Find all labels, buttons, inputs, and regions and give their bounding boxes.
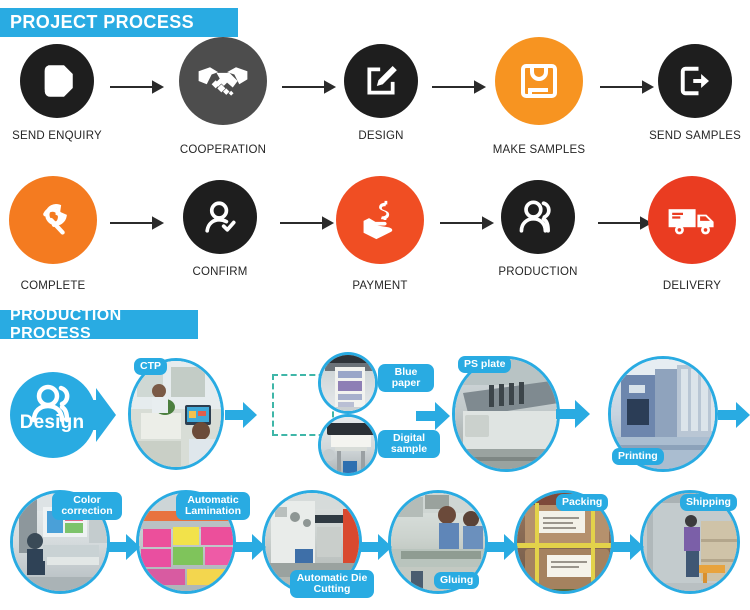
- blue-paper-proof-photo: [321, 355, 375, 411]
- hand-money-icon: [356, 199, 404, 241]
- design-circle: [344, 44, 418, 118]
- delivery-circle: [648, 176, 736, 264]
- project-step-label: SEND SAMPLES: [630, 130, 750, 142]
- project-step-confirm[interactable]: CONFIRM: [155, 180, 285, 278]
- project-step-cooperation[interactable]: COOPERATION: [158, 37, 288, 156]
- send-enquiry-circle: [20, 44, 94, 118]
- arrow-ctp-to-proof: [225, 402, 257, 433]
- project-step-send-enquiry[interactable]: SEND ENQUIRY: [0, 44, 122, 142]
- design-label: Design: [16, 412, 88, 434]
- truck-icon: [665, 200, 719, 240]
- arrow-lamination-to-die-cutting: [234, 534, 266, 565]
- project-step-label: CONFIRM: [155, 266, 285, 278]
- arrow-gluing-to-packing: [486, 534, 518, 565]
- arrow-color-to-lamination: [108, 534, 140, 565]
- project-step-label: MAKE SAMPLES: [474, 144, 604, 156]
- project-step-complete[interactable]: COMPLETE: [0, 176, 118, 292]
- infographic-canvas: PROJECT PROCESS SEND ENQUIRY: [0, 0, 750, 610]
- production-process-row-1: Design: [0, 352, 750, 474]
- production-photo-ps-plate[interactable]: [452, 356, 560, 472]
- project-step-make-samples[interactable]: MAKE SAMPLES: [474, 37, 604, 156]
- wrench-icon: [30, 197, 76, 243]
- production-tag-blue-paper: Blue paper: [378, 364, 434, 392]
- production-process-banner: PRODUCTION PROCESS: [0, 310, 198, 339]
- production-tag-automatic-lamination: Automatic Lamination: [176, 492, 250, 520]
- user-check-icon: [198, 195, 242, 239]
- project-step-label: DELIVERY: [627, 280, 750, 292]
- project-step-send-samples[interactable]: SEND SAMPLES: [630, 44, 750, 142]
- production-photo-ctp[interactable]: [128, 358, 224, 470]
- cooperation-circle: [179, 37, 267, 125]
- project-step-delivery[interactable]: DELIVERY: [627, 176, 750, 292]
- production-process-row-2: Color correction: [0, 488, 750, 606]
- project-step-label: DESIGN: [316, 130, 446, 142]
- digital-sample-printer-photo: [321, 417, 375, 473]
- ctp-workstation-photo: [131, 361, 221, 467]
- make-samples-circle: [495, 37, 583, 125]
- project-step-label: COOPERATION: [158, 144, 288, 156]
- arrow-packing-to-shipping: [612, 534, 644, 565]
- production-tag-printing: Printing: [612, 448, 664, 465]
- arrow-die-cutting-to-gluing: [360, 534, 392, 565]
- production-photo-blue-paper[interactable]: [318, 352, 378, 414]
- production-tag-ctp: CTP: [134, 358, 167, 375]
- project-step-payment[interactable]: PAYMENT: [315, 176, 445, 292]
- project-step-design[interactable]: DESIGN: [316, 44, 446, 142]
- edit-square-icon: [361, 61, 401, 101]
- production-photo-digital-sample[interactable]: [318, 414, 378, 476]
- ps-plate-machine-photo: [455, 359, 557, 469]
- project-step-label: PRODUCTION: [473, 266, 603, 278]
- project-step-production[interactable]: PRODUCTION: [473, 180, 603, 278]
- production-tag-gluing: Gluing: [434, 572, 479, 589]
- production-tag-ps-plate: PS plate: [458, 356, 511, 373]
- arrow-printing-to-next-row: [718, 402, 750, 433]
- production-tag-packing: Packing: [556, 494, 608, 511]
- project-process-banner: PROJECT PROCESS: [0, 8, 238, 37]
- production-tag-digital-sample: Digital sample: [378, 430, 440, 458]
- send-box-icon: [674, 60, 716, 102]
- handshake-icon: [197, 61, 249, 101]
- production-tag-die-cutting: Automatic Die Cutting: [290, 570, 374, 598]
- sample-bag-icon: [515, 57, 563, 105]
- project-step-label: PAYMENT: [315, 280, 445, 292]
- document-icon: [36, 60, 78, 102]
- production-tag-color-correction: Color correction: [52, 492, 122, 520]
- send-samples-circle: [658, 44, 732, 118]
- two-people-icon: [515, 195, 561, 239]
- arrow-ps-plate-to-printing: [556, 400, 590, 433]
- production-circle: [501, 180, 575, 254]
- project-process-row-1: SEND ENQUIRY COOPERATION: [0, 44, 750, 164]
- project-process-row-2: COMPLETE CONFIRM: [0, 180, 750, 300]
- payment-circle: [336, 176, 424, 264]
- project-step-label: SEND ENQUIRY: [0, 130, 122, 142]
- project-step-label: COMPLETE: [0, 280, 118, 292]
- confirm-circle: [183, 180, 257, 254]
- production-step-design[interactable]: Design: [8, 370, 116, 460]
- production-tag-shipping: Shipping: [680, 494, 737, 511]
- complete-circle: [9, 176, 97, 264]
